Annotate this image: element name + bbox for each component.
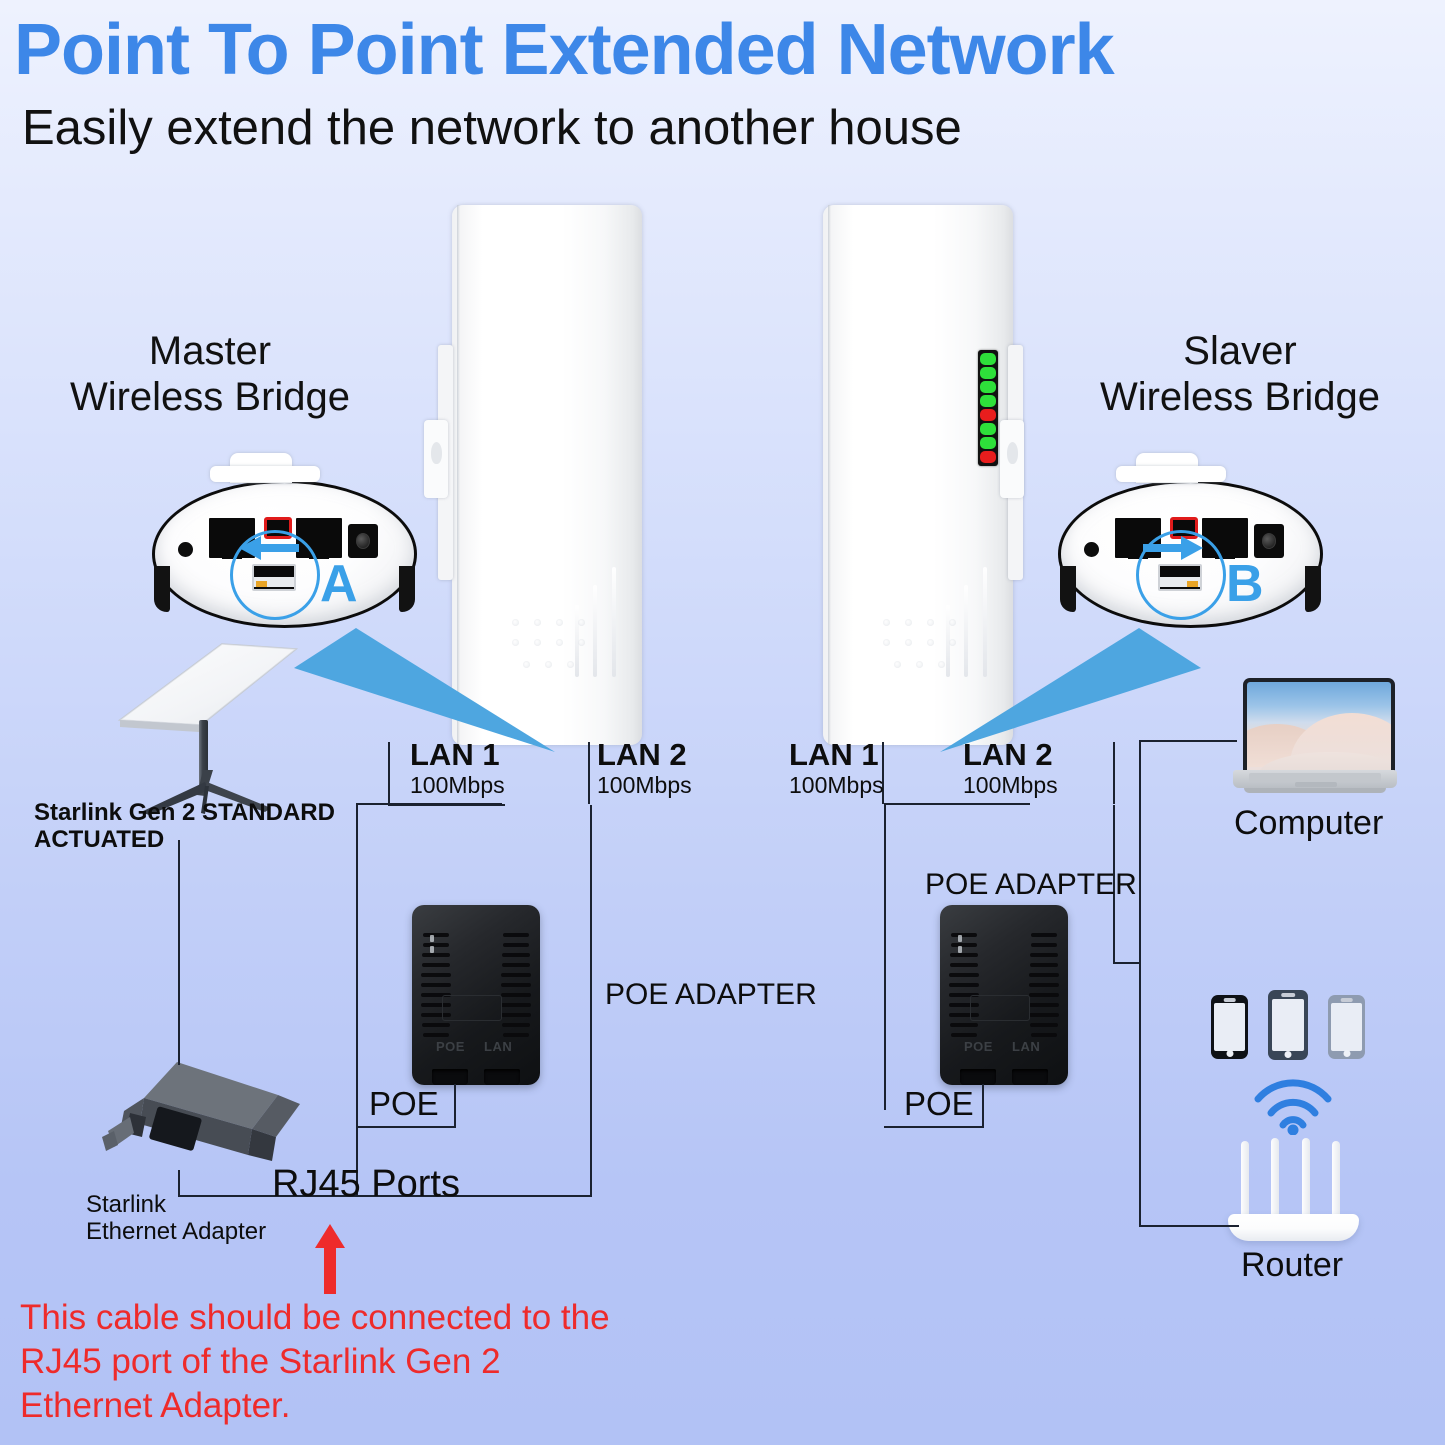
router-antenna-4 (1332, 1141, 1340, 1219)
master-status-hole (178, 542, 193, 557)
master-callout-letter: A (320, 558, 358, 610)
line-slaver-lan2-to-node (1113, 962, 1141, 964)
laptop-lid (1243, 678, 1395, 783)
phone-3 (1328, 995, 1365, 1059)
line-rj45-to-adapter (178, 1170, 180, 1197)
warning-text: This cable should be connected to the RJ… (20, 1296, 610, 1428)
slaver-bridge-caption-line1: Slaver (1035, 328, 1445, 374)
rj45-ports-label: RJ45 Ports (272, 1163, 460, 1206)
slaver-bridge-caption-line2: Wireless Bridge (1035, 374, 1445, 420)
slaver-lan1-speed: 100Mbps (789, 773, 884, 799)
master-lan2-tagbox (588, 742, 592, 804)
slaver-bridge-mount-tab (1000, 420, 1024, 498)
page-subtitle: Easily extend the network to another hou… (22, 104, 962, 153)
left-poe-adapter-device: POE LAN (412, 905, 540, 1085)
red-up-arrow-icon (313, 1222, 347, 1296)
starlink-dish-device (95, 640, 325, 815)
slaver-lan2-name: LAN 2 (963, 738, 1058, 773)
right-poe-adapter-label: POE ADAPTER (925, 868, 1137, 902)
computer-device (1230, 678, 1400, 798)
line-node-to-router-vert (1139, 962, 1141, 1227)
slaver-lan2-label: LAN 2 100Mbps (963, 738, 1058, 798)
router-antenna-3 (1302, 1138, 1310, 1219)
slaver-led-7 (980, 437, 996, 449)
line-node-to-router-horiz (1139, 1225, 1239, 1227)
left-poe-tag-label: POE (369, 1086, 439, 1123)
master-lan2-speed: 100Mbps (597, 773, 692, 799)
laptop-base (1233, 770, 1397, 788)
slaver-lan2-tagbox (1113, 742, 1117, 804)
left-poe-adapter-label: POE ADAPTER (605, 978, 817, 1012)
slaver-led-6 (980, 423, 996, 435)
line-master-lan1-vert (356, 805, 358, 1110)
slaver-led-1 (980, 353, 996, 365)
phone-1 (1211, 995, 1248, 1059)
laptop-screen (1247, 682, 1391, 774)
wifi-signal-icon (1252, 1073, 1334, 1135)
warning-line-3: Ethernet Adapter. (20, 1384, 610, 1428)
left-poe-unit-port-label-poe: POE (436, 1039, 465, 1054)
line-slaver-lan1-vert (884, 805, 886, 1110)
router-device (1228, 1138, 1373, 1243)
right-poe-jack-poe[interactable] (960, 1069, 996, 1085)
slaver-bridge-led-indicator (978, 350, 998, 466)
right-poe-adapter-device: POE LAN (940, 905, 1068, 1085)
master-lan1-name: LAN 1 (410, 738, 505, 773)
starlink-dish-caption-line1: Starlink Gen 2 STANDARD (34, 800, 335, 827)
master-bridge-caption: Master Wireless Bridge (0, 328, 420, 421)
router-label: Router (1241, 1246, 1343, 1284)
warning-line-2: RJ45 port of the Starlink Gen 2 (20, 1340, 610, 1384)
slaver-lan2-speed: 100Mbps (963, 773, 1058, 799)
line-dish-to-adapter (178, 840, 180, 1065)
master-lan1-label: LAN 1 100Mbps (410, 738, 505, 798)
left-poe-jack-lan[interactable] (484, 1069, 520, 1085)
page-title: Point To Point Extended Network (14, 14, 1444, 86)
warning-line-1: This cable should be connected to the (20, 1296, 610, 1340)
master-bridge-mount-tab (424, 420, 448, 498)
master-lan2-name: LAN 2 (597, 738, 692, 773)
laptop-foot (1244, 788, 1386, 793)
line-node-vert (1139, 742, 1141, 964)
slaver-led-4 (980, 395, 996, 407)
master-bridge-caption-line2: Wireless Bridge (0, 374, 420, 420)
master-lan1-speed: 100Mbps (410, 773, 505, 799)
right-poe-unit-port-label-lan: LAN (1012, 1039, 1040, 1054)
slaver-lan1-label: LAN 1 100Mbps (789, 738, 884, 798)
right-poe-tag-label: POE (904, 1086, 974, 1123)
line-master-lan2-vert (590, 805, 592, 1197)
master-port-panel: A (152, 480, 417, 628)
master-bridge-caption-line1: Master (0, 328, 420, 374)
slaver-led-3 (980, 381, 996, 393)
line-node-to-computer (1139, 740, 1237, 742)
slaver-led-8 (980, 451, 996, 463)
slaver-dip-arrow-icon (1143, 535, 1205, 561)
slaver-led-5 (980, 409, 996, 421)
router-antenna-1 (1241, 1141, 1249, 1219)
left-poe-unit-port-label-lan: LAN (484, 1039, 512, 1054)
slaver-port-panel: B (1058, 480, 1323, 628)
line-slaver-lan1-horiz (884, 803, 1030, 805)
starlink-dish-caption: Starlink Gen 2 STANDARD ACTUATED (34, 800, 335, 854)
master-dip-arrow-icon (237, 535, 299, 561)
left-poe-jack-poe[interactable] (432, 1069, 468, 1085)
slaver-led-2 (980, 367, 996, 379)
router-antenna-2 (1271, 1138, 1279, 1219)
slaver-lan1-name: LAN 1 (789, 738, 884, 773)
right-poe-jack-lan[interactable] (1012, 1069, 1048, 1085)
slaver-power-jack[interactable] (1254, 524, 1284, 558)
slaver-callout-letter: B (1226, 558, 1264, 610)
starlink-dish-caption-line2: ACTUATED (34, 827, 335, 854)
master-power-jack[interactable] (348, 524, 378, 558)
starlink-adapter-caption-line2: Ethernet Adapter (86, 1219, 266, 1246)
slaver-status-hole (1084, 542, 1099, 557)
starlink-adapter-caption: Starlink Ethernet Adapter (86, 1192, 266, 1246)
master-lan2-label: LAN 2 100Mbps (597, 738, 692, 798)
computer-label: Computer (1234, 804, 1383, 842)
router-body (1228, 1214, 1359, 1241)
slaver-bridge-caption: Slaver Wireless Bridge (1035, 328, 1445, 421)
phone-2 (1268, 990, 1308, 1060)
right-poe-unit-port-label-poe: POE (964, 1039, 993, 1054)
